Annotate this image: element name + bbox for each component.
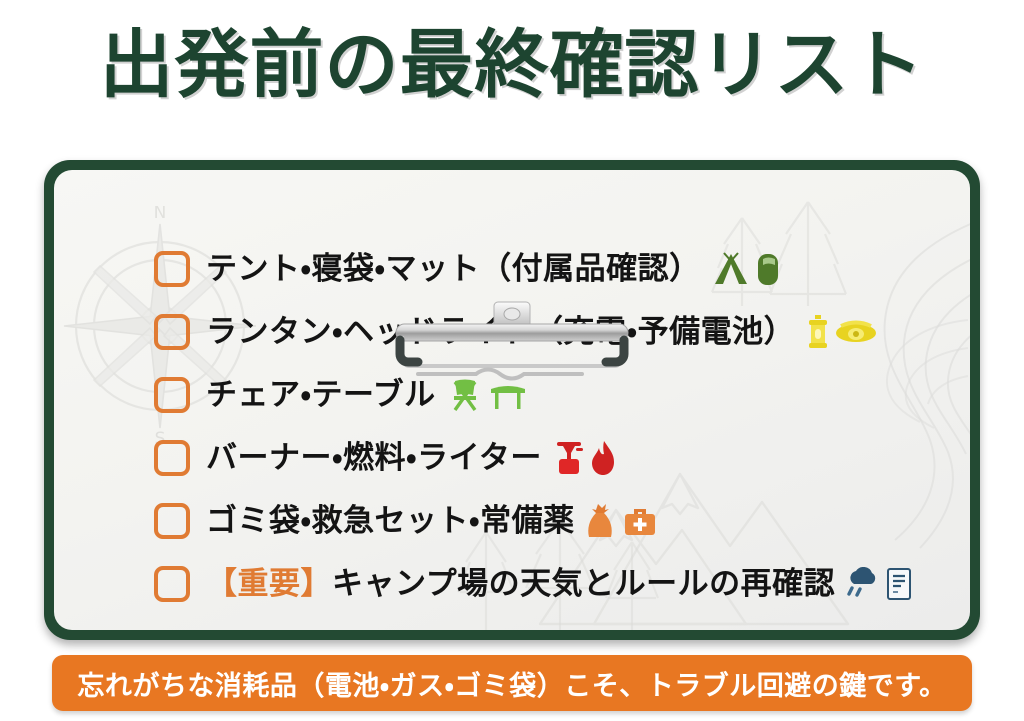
- checklist-item-6-icons: [845, 567, 913, 601]
- checkbox-2[interactable]: [154, 314, 190, 350]
- checklist-item-6-important: 【重要】キャンプ場の天気とルールの再確認: [206, 566, 835, 602]
- flame-icon: [590, 439, 616, 477]
- checklist-item-2-icons: [805, 313, 877, 351]
- clip-bracket-left: [400, 340, 418, 362]
- compass-north-label: N: [154, 206, 167, 223]
- sleeping-bag-icon: [755, 251, 781, 287]
- headlamp-icon: [835, 317, 877, 347]
- checklist-item-4-icons: [552, 439, 616, 477]
- checklist-item-5-icons: [585, 501, 657, 541]
- clipboard-clip[interactable]: [388, 300, 636, 384]
- camp-stove-icon: [552, 439, 586, 477]
- checkbox-6[interactable]: [154, 566, 190, 602]
- clip-wire: [418, 370, 582, 379]
- checklist-item-1[interactable]: テント・寝袋・マット（付属品確認）: [154, 238, 950, 299]
- bottom-banner-text: 忘れがちな消耗品（電池・ガス・ゴミ袋）こそ、トラブル回避の鍵です。: [77, 664, 946, 703]
- clip-hanger-hole: [504, 308, 520, 320]
- first-aid-kit-icon: [623, 505, 657, 537]
- checklist-item-1-label: テント・寝袋・マット（付属品確認）: [206, 251, 701, 287]
- bottom-banner: 忘れがちな消耗品（電池・ガス・ゴミ袋）こそ、トラブル回避の鍵です。: [52, 655, 972, 711]
- document-icon: [885, 567, 913, 601]
- lantern-icon: [805, 313, 831, 351]
- page-title: 出発前の最終確認リスト: [0, 22, 1024, 108]
- tent-icon: [711, 251, 751, 287]
- checklist: テント・寝袋・マット（付属品確認）: [154, 238, 950, 616]
- important-tag: 【重要】: [206, 566, 332, 602]
- checklist-item-5-label: ゴミ袋・救急セット・常備薬: [206, 503, 575, 539]
- checklist-item-6-label: キャンプ場の天気とルールの再確認: [332, 566, 835, 602]
- clipboard-frame: N S: [44, 160, 980, 640]
- checkbox-1[interactable]: [154, 251, 190, 287]
- clip-bar: [396, 324, 628, 341]
- checklist-item-5[interactable]: ゴミ袋・救急セット・常備薬: [154, 490, 950, 551]
- clip-bracket-right: [606, 340, 624, 362]
- checklist-item-6[interactable]: 【重要】キャンプ場の天気とルールの再確認: [154, 553, 950, 614]
- checklist-item-1-icons: [711, 251, 781, 287]
- rain-cloud-icon: [845, 567, 881, 601]
- trash-bag-icon: [585, 501, 619, 541]
- checkbox-4[interactable]: [154, 440, 190, 476]
- checkbox-3[interactable]: [154, 377, 190, 413]
- checkbox-5[interactable]: [154, 503, 190, 539]
- checklist-item-4-label: バーナー・燃料・ライター: [206, 440, 542, 476]
- checklist-item-4[interactable]: バーナー・燃料・ライター: [154, 427, 950, 488]
- clipboard-paper: N S: [54, 170, 970, 630]
- poster-canvas: 出発前の最終確認リスト: [0, 0, 1024, 721]
